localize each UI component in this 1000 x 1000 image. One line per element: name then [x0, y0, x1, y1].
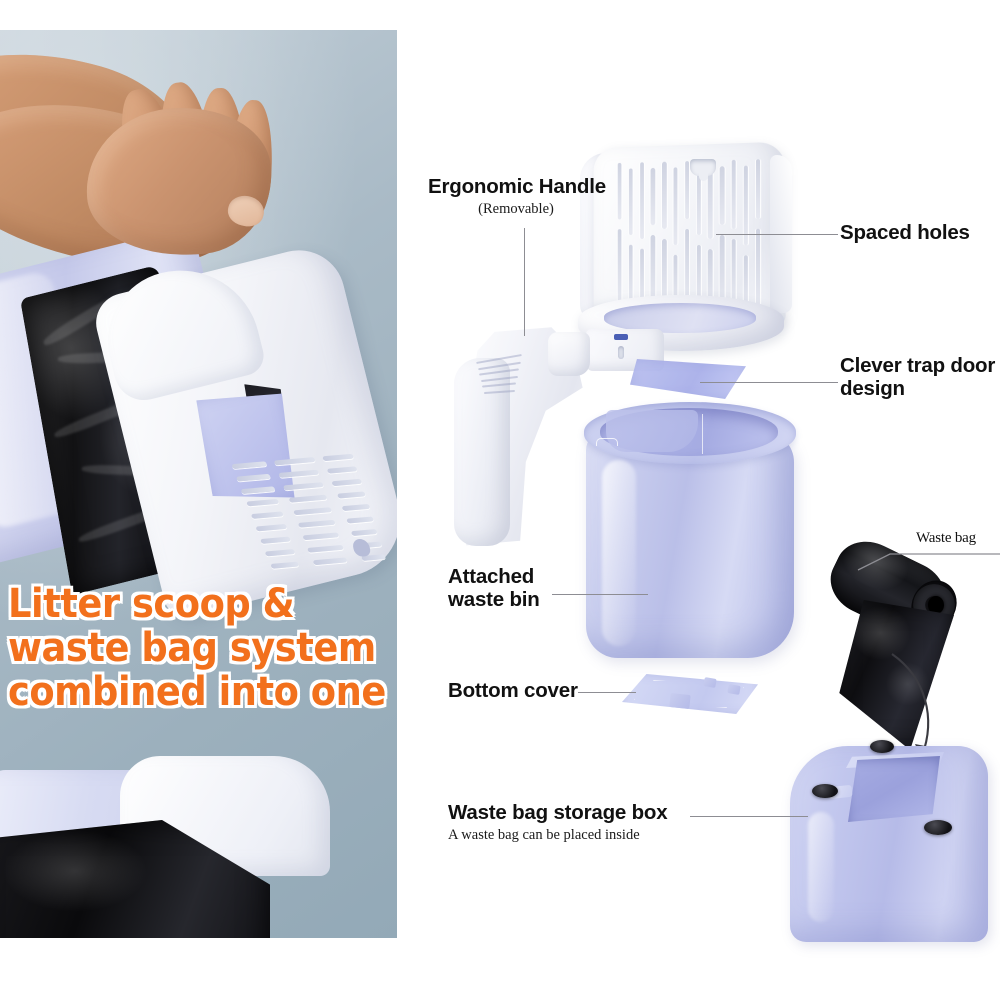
- grate-slot: [256, 524, 288, 531]
- leader-ergonomic-handle: [524, 228, 525, 336]
- grate-slot: [327, 466, 358, 473]
- slot: [618, 229, 622, 305]
- grate-slot: [232, 461, 268, 469]
- slot: [756, 159, 760, 218]
- blue-indicator: [614, 334, 628, 340]
- part-waste-bag-storage-box: [782, 742, 1000, 942]
- bin-highlight: [602, 460, 636, 646]
- slot: [640, 162, 644, 239]
- callout-title: Ergonomic Handle: [428, 176, 606, 199]
- bin-seam: [702, 414, 703, 454]
- cover-tab: [727, 684, 740, 695]
- headline-line-3: combined into one: [8, 672, 369, 716]
- grate-slot: [293, 507, 331, 515]
- grate-slot: [342, 504, 370, 511]
- grate-slot: [332, 479, 362, 486]
- callout-clever-trap-door: Clever trap door design: [840, 355, 995, 400]
- headline: Litter scoop & waste bag system combined…: [8, 584, 369, 715]
- slot: [629, 245, 633, 306]
- grate-slot: [265, 549, 295, 556]
- latch-slot: [618, 346, 624, 359]
- slot: [732, 160, 736, 229]
- grate-slot: [312, 557, 347, 565]
- slot: [720, 166, 724, 225]
- product-photo-panel: Litter scoop & waste bag system combined…: [0, 30, 397, 938]
- grate-slot: [303, 532, 340, 540]
- slot: [674, 167, 678, 245]
- leader-bottom-cover: [578, 692, 636, 693]
- leader-spaced-holes: [716, 234, 838, 235]
- rubber-foot: [924, 820, 952, 835]
- grate-slot: [351, 529, 378, 536]
- slot: [651, 168, 655, 225]
- callout-waste-bag: Waste bag: [916, 530, 976, 547]
- callout-waste-bag-storage-box: Waste bag storage box A waste bag can be…: [448, 802, 667, 844]
- callout-title: Clever trap door: [840, 355, 995, 378]
- grate-slot: [246, 499, 279, 507]
- rubber-foot: [870, 740, 894, 753]
- callout-title-line-2: design: [840, 378, 995, 401]
- grate-slot: [322, 454, 354, 461]
- callout-title: Attached: [448, 566, 540, 589]
- handle-ridge: [482, 383, 516, 388]
- slot: [662, 162, 666, 229]
- grate-slot: [270, 562, 299, 569]
- callout-title: Spaced holes: [840, 222, 970, 245]
- grate-slot: [308, 545, 344, 553]
- handle-ridge: [481, 376, 518, 382]
- slot: [629, 168, 633, 235]
- grate-slot: [298, 520, 336, 528]
- callout-subtitle: (Removable): [428, 200, 604, 218]
- rubber-foot: [812, 784, 838, 798]
- handle-ridge: [483, 390, 514, 394]
- grate-slot: [274, 457, 316, 465]
- spaced-holes-grid: [618, 155, 771, 317]
- bin-flat-face: [606, 410, 698, 452]
- slot: [685, 161, 689, 219]
- grate-slot: [346, 516, 374, 523]
- slot: [618, 163, 622, 220]
- grate-slot: [236, 474, 271, 482]
- cover-tab: [669, 693, 690, 709]
- grate-slot: [283, 482, 323, 490]
- grate-slot: [279, 470, 320, 478]
- callout-title: Waste bag storage box: [448, 802, 667, 825]
- cover-tab: [703, 677, 716, 688]
- callout-bottom-cover: Bottom cover: [448, 680, 578, 703]
- headline-line-1: Litter scoop &: [8, 584, 369, 628]
- callout-ergonomic-handle: Ergonomic Handle (Removable): [428, 176, 606, 218]
- callout-attached-waste-bin: Attached waste bin: [448, 566, 540, 611]
- grate-slot: [288, 495, 327, 503]
- leader-waste-bag-storage-box: [690, 816, 808, 817]
- grate-slot: [260, 537, 291, 544]
- callout-title-line-2: waste bin: [448, 589, 540, 612]
- grate-slot: [241, 486, 275, 494]
- handle-ridge: [479, 369, 519, 376]
- headline-line-2: waste bag system: [8, 628, 369, 672]
- storage-highlight: [808, 812, 834, 922]
- leader-attached-waste-bin: [552, 594, 648, 595]
- part-waste-bin: [576, 398, 802, 666]
- part-ergonomic-handle: [452, 318, 594, 550]
- infographic-canvas: Litter scoop & waste bag system combined…: [0, 0, 1000, 1000]
- part-bottom-cover: [616, 668, 766, 722]
- handle-ridges: [474, 354, 528, 396]
- grate-slot: [251, 511, 283, 519]
- grate-slot: [337, 491, 366, 498]
- callout-subtitle: A waste bag can be placed inside: [448, 826, 667, 844]
- leader-clever-trap-door: [700, 382, 838, 383]
- callout-title: Waste bag: [916, 530, 976, 547]
- handle-mount-tip: [548, 332, 590, 376]
- bin-notch: [596, 438, 618, 446]
- storage-cavity: [848, 756, 940, 822]
- leader-waste-bag: [856, 548, 1000, 572]
- callout-spaced-holes: Spaced holes: [840, 222, 970, 245]
- part-scoop-head: [574, 143, 806, 393]
- slot: [756, 229, 760, 309]
- callout-title: Bottom cover: [448, 680, 578, 703]
